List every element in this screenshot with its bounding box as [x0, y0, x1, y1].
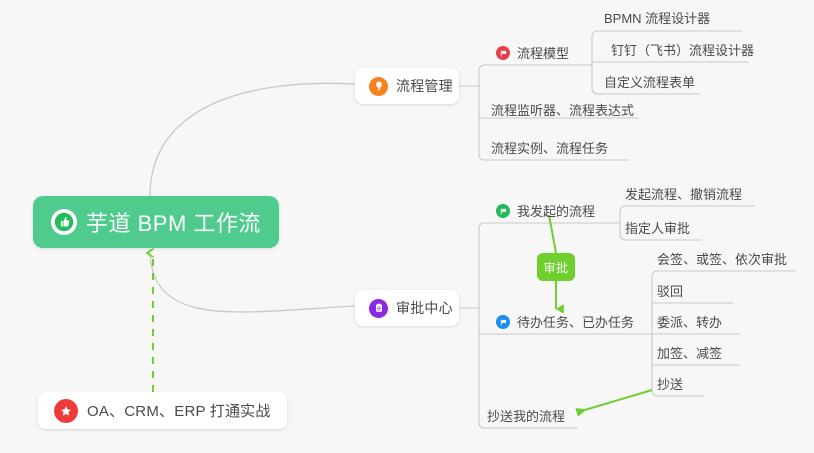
- leaf-process-model[interactable]: 流程模型: [496, 46, 569, 65]
- leaf-todo-done-tasks[interactable]: 待办任务、已办任务: [496, 315, 634, 334]
- branch-node-approval-center[interactable]: 审批中心: [355, 290, 459, 326]
- flag-blue-icon: [496, 315, 510, 329]
- root-node[interactable]: 芋道 BPM 工作流: [33, 196, 279, 248]
- leaf-bpmn-designer[interactable]: BPMN 流程设计器: [604, 12, 710, 30]
- star-icon: [54, 399, 78, 423]
- branch-label: 流程管理: [396, 76, 453, 96]
- lightbulb-icon: [369, 77, 388, 96]
- note-card-label: OA、CRM、ERP 打通实战: [87, 400, 271, 421]
- thumbs-up-icon: [51, 209, 77, 235]
- leaf-my-initiated-process[interactable]: 我发起的流程: [496, 204, 595, 223]
- branch-label: 审批中心: [396, 298, 453, 318]
- leaf-label: 流程模型: [517, 47, 569, 60]
- approval-badge: 审批: [537, 253, 575, 281]
- branch-node-process-management[interactable]: 流程管理: [355, 68, 459, 104]
- flag-green-icon: [496, 204, 510, 218]
- leaf-cc[interactable]: 抄送: [657, 378, 683, 396]
- flag-red-icon: [496, 46, 510, 60]
- leaf-delegate-transfer[interactable]: 委派、转办: [657, 316, 722, 334]
- leaf-process-listener[interactable]: 流程监听器、流程表达式: [491, 104, 634, 122]
- leaf-assignee-approval[interactable]: 指定人审批: [625, 222, 690, 240]
- leaf-countersign[interactable]: 会签、或签、依次审批: [657, 253, 787, 271]
- leaf-reject[interactable]: 驳回: [657, 285, 683, 303]
- leaf-add-remove-sign[interactable]: 加签、减签: [657, 347, 722, 365]
- leaf-start-cancel-process[interactable]: 发起流程、撤销流程: [625, 188, 742, 206]
- clipboard-icon: [369, 299, 388, 318]
- leaf-dingtalk-designer[interactable]: 钉钉（飞书）流程设计器: [611, 44, 754, 62]
- approval-badge-label: 审批: [543, 259, 568, 276]
- note-card-integration[interactable]: OA、CRM、ERP 打通实战: [38, 392, 287, 429]
- leaf-process-instance[interactable]: 流程实例、流程任务: [491, 142, 608, 160]
- mindmap-canvas: 芋道 BPM 工作流 流程管理 流程模型 BPMN 流程设计器 钉钉（飞书）流程…: [0, 0, 814, 453]
- leaf-cc-to-me[interactable]: 抄送我的流程: [487, 410, 565, 428]
- leaf-custom-form[interactable]: 自定义流程表单: [604, 76, 695, 94]
- root-label: 芋道 BPM 工作流: [86, 206, 261, 238]
